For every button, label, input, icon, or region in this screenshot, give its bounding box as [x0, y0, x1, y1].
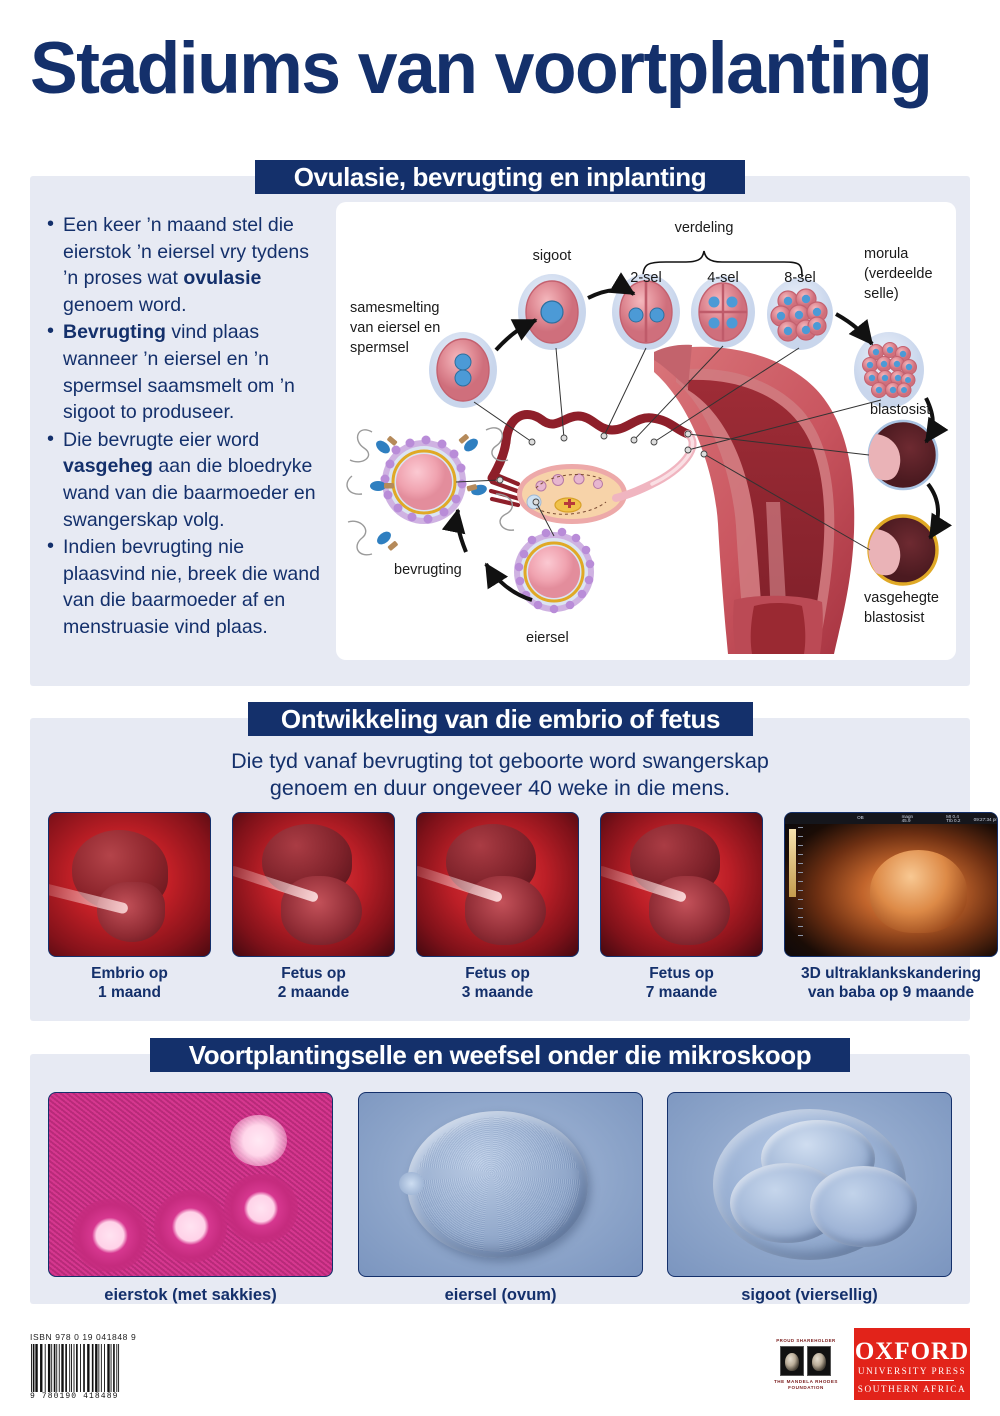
embryo-image: [48, 812, 211, 957]
section-one-bullet-list: Een keer ’n maand stel die eierstok ’n e…: [46, 212, 326, 642]
mandela-proud-shareholder-text: PROUD SHAREHOLDER: [766, 1338, 846, 1343]
oup-subtitle: UNIVERSITY PRESS: [854, 1366, 970, 1376]
label-morula-line2: (verdeelde: [864, 266, 933, 282]
page-title: Stadiums van voortplanting: [30, 26, 956, 112]
fetus-stage-1: Embrio op1 maand: [48, 812, 211, 957]
label-eiersel: eiersel: [526, 630, 569, 646]
label-morula-line3: selle): [864, 286, 899, 302]
fetus-image: [416, 812, 579, 957]
bullet-item-2: Bevrugting vind plaas wanneer ’n eiersel…: [46, 319, 326, 425]
ovulation-diagram-card: verdeling sigoot 2-sel 4-sel 8-sel morul…: [336, 202, 956, 660]
microscope-caption-1: eierstok (met sakkies): [48, 1286, 333, 1305]
label-samesmelting-line3: spermsel: [350, 340, 409, 356]
oup-wordmark: OXFORD: [854, 1339, 970, 1365]
uterus-illustration: [654, 345, 854, 654]
fetus-stage-caption-4: Fetus op7 maande: [600, 964, 763, 1002]
ovary-micrograph: [48, 1092, 333, 1277]
mandela-name-line2: FOUNDATION: [766, 1385, 846, 1391]
caption-line-1: Embrio op: [48, 964, 211, 983]
ultrasound-mode: OB: [857, 815, 864, 820]
fetus-stage-4: Fetus op7 maande: [600, 812, 763, 957]
bullet-item-4: Indien bevrugting nie plaasvind nie, bre…: [46, 534, 326, 640]
intro-line-1: Die tyd vanaf bevrugting tot geboorte wo…: [130, 748, 870, 775]
fetus-image: [232, 812, 395, 957]
intro-line-2: genoem en duur ongeveer 40 weke in die m…: [130, 775, 870, 802]
bullet-item-3: Die bevrugte eier word vasgeheg aan die …: [46, 427, 326, 533]
fetus-stage-caption-3: Fetus op3 maande: [416, 964, 579, 1002]
bullet-item-1: Een keer ’n maand stel die eierstok ’n e…: [46, 212, 326, 318]
ultrasound-timestamp: 09:27:34 pm: [974, 817, 998, 822]
caption-line-2: van baba op 9 maande: [784, 983, 998, 1002]
ultrasound-magn-value: 45.9: [902, 818, 911, 823]
poster-root: Stadiums van voortplanting Ovulasie, bev…: [0, 0, 1000, 1416]
section-three-banner: Voortplantingselle en weefsel onder die …: [150, 1038, 850, 1072]
fetus-stage-caption-2: Fetus op2 maande: [232, 964, 395, 1002]
section-one-banner: Ovulasie, bevrugting en inplanting: [255, 160, 745, 194]
oxford-university-press-logo: OXFORD UNIVERSITY PRESS SOUTHERN AFRICA: [854, 1328, 970, 1400]
mandela-portrait-icon: [780, 1346, 804, 1376]
label-2-sel: 2-sel: [630, 270, 661, 286]
caption-line-2: 2 maande: [232, 983, 395, 1002]
section-two-intro: Die tyd vanaf bevrugting tot geboorte wo…: [130, 748, 870, 802]
ultrasound-header-bar: [785, 813, 997, 824]
rhodes-portrait-icon: [807, 1346, 831, 1376]
mandela-rhodes-foundation-logo: PROUD SHAREHOLDER THE MANDELA RHODES FOU…: [766, 1338, 846, 1400]
label-8-sel: 8-sel: [784, 270, 815, 286]
fetus-stage-3: Fetus op3 maande: [416, 812, 579, 957]
label-blastosist: blastosist: [870, 402, 930, 418]
fetus-stage-caption-1: Embrio op1 maand: [48, 964, 211, 1002]
microscope-item-2: eiersel (ovum): [358, 1092, 643, 1277]
barcode-digits: 9 780190 418489: [30, 1392, 122, 1401]
label-4-sel: 4-sel: [707, 270, 738, 286]
label-vasgehegte-line1: vasgehegte: [864, 590, 939, 606]
caption-line-2: 3 maande: [416, 983, 579, 1002]
caption-line-1: Fetus op: [416, 964, 579, 983]
label-bevrugting: bevrugting: [394, 562, 462, 578]
caption-line-1: Fetus op: [600, 964, 763, 983]
microscope-row: eierstok (met sakkies)eiersel (ovum)sigo…: [48, 1092, 952, 1277]
label-samesmelting-line2: van eiersel en: [350, 320, 440, 336]
blastocyst-illustrations: [869, 421, 938, 584]
isbn-text: ISBN 978 0 19 041848 9: [30, 1332, 136, 1342]
label-verdeling: verdeling: [675, 220, 734, 236]
label-vasgehegte-line2: blastosist: [864, 610, 924, 626]
caption-line-1: Fetus op: [232, 964, 395, 983]
mandela-portraits: [780, 1346, 832, 1376]
oup-region: SOUTHERN AFRICA: [854, 1384, 970, 1394]
label-sigoot: sigoot: [533, 248, 572, 264]
microscope-caption-3: sigoot (viersellig): [667, 1286, 952, 1305]
zygote-micrograph: [667, 1092, 952, 1277]
barcode-image: [30, 1344, 122, 1392]
microscope-caption-2: eiersel (ovum): [358, 1286, 643, 1305]
caption-line-2: 7 maande: [600, 983, 763, 1002]
ovum-micrograph: [358, 1092, 643, 1277]
fetus-stage-row: Embrio op1 maandFetus op2 maandeFetus op…: [48, 812, 952, 957]
ultrasound-ti-value: TIb 0.2: [946, 818, 960, 823]
ovulation-diagram-svg: verdeling sigoot 2-sel 4-sel 8-sel morul…: [336, 202, 956, 660]
section-two-banner: Ontwikkeling van die embrio of fetus: [248, 702, 753, 736]
microscope-item-1: eierstok (met sakkies): [48, 1092, 333, 1277]
fetus-stage-2: Fetus op2 maande: [232, 812, 395, 957]
microscope-item-3: sigoot (viersellig): [667, 1092, 952, 1277]
fetus-image: [600, 812, 763, 957]
caption-line-1: 3D ultraklankskandering: [784, 964, 998, 983]
label-samesmelting-line1: samesmelting: [350, 300, 439, 316]
fallopian-tube-illustration: [491, 415, 693, 521]
oup-divider: [870, 1380, 954, 1381]
mandela-foundation-name: THE MANDELA RHODES FOUNDATION: [766, 1379, 846, 1392]
label-morula-line1: morula: [864, 246, 909, 262]
caption-line-2: 1 maand: [48, 983, 211, 1002]
ultrasound-image: OBmagn45.9MI 0.4TIb 0.209:27:34 pm: [784, 812, 998, 957]
fetus-stage-caption-5: 3D ultraklankskanderingvan baba op 9 maa…: [784, 964, 998, 1002]
fetus-stage-5: OBmagn45.9MI 0.4TIb 0.209:27:34 pm3D ult…: [784, 812, 998, 957]
